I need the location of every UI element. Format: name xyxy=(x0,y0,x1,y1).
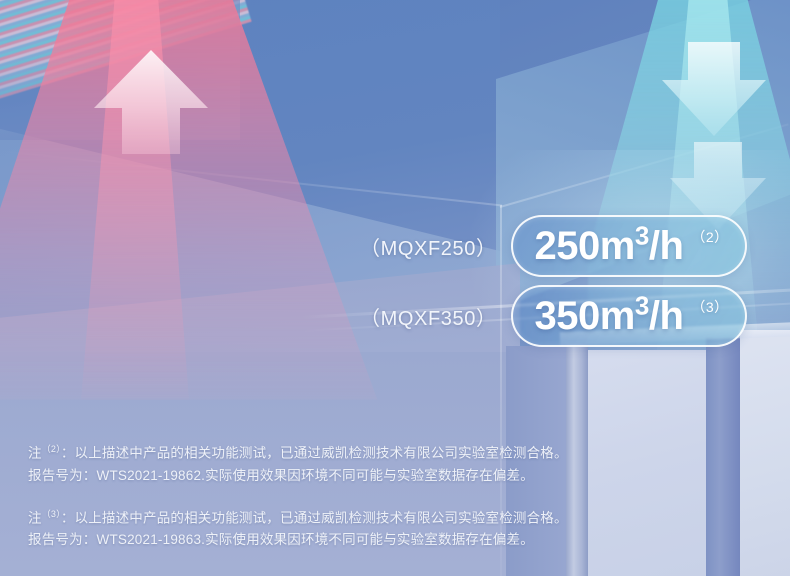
airflow-value-250: 250m3/h xyxy=(535,226,684,266)
airflow-pill-350[interactable]: 350m3/h （3） xyxy=(511,285,747,347)
airflow-number-350: 350m xyxy=(535,294,635,338)
spec-row-mqxf350: （MQXF350） 350m3/h （3） xyxy=(360,285,747,347)
footnote-3-marker: 注 xyxy=(28,510,42,525)
banner-stage: （MQXF250） 250m3/h （2） （MQXF350） 350m3/h … xyxy=(0,0,790,576)
footnotes-block: 注（2）：以上描述中产品的相关功能测试，已通过威凯检测技术有限公司实验室检测合格… xyxy=(28,438,588,567)
footnote-2-line-2: 报告号为：WTS2021-19862.实际使用效果因环境不同可能与实验室数据存在… xyxy=(28,465,588,487)
footnote-2: 注（2）：以上描述中产品的相关功能测试，已通过威凯检测技术有限公司实验室检测合格… xyxy=(28,438,588,487)
footnote-ref-350: （3） xyxy=(691,297,728,317)
model-label-mqxf250: （MQXF250） xyxy=(360,232,497,261)
airflow-exponent-350: 3 xyxy=(635,291,649,321)
arrow-up-icon xyxy=(92,48,210,156)
footnote-2-marker: 注 xyxy=(28,446,42,461)
spec-row-mqxf250: （MQXF250） 250m3/h （2） xyxy=(360,215,747,277)
footnote-3-line-1: 注（3）：以上描述中产品的相关功能测试，已通过威凯检测技术有限公司实验室检测合格… xyxy=(28,503,588,530)
arrow-down-icon xyxy=(660,40,768,138)
airflow-pill-250[interactable]: 250m3/h （2） xyxy=(511,215,747,277)
footnote-3: 注（3）：以上描述中产品的相关功能测试，已通过威凯检测技术有限公司实验室检测合格… xyxy=(28,503,588,552)
airflow-unit-250: /h xyxy=(649,224,684,268)
footnote-2-marker-sup: （2） xyxy=(42,444,61,454)
airflow-number-250: 250m xyxy=(535,224,635,268)
model-label-mqxf350: （MQXF350） xyxy=(360,302,497,331)
footnote-2-text-1: ：以上描述中产品的相关功能测试，已通过威凯检测技术有限公司实验室检测合格。 xyxy=(61,446,568,461)
window-pane-left xyxy=(588,350,706,576)
footnote-ref-250: （2） xyxy=(691,227,728,247)
footnote-3-marker-sup: （3） xyxy=(42,509,61,519)
footnote-3-text-1: ：以上描述中产品的相关功能测试，已通过威凯检测技术有限公司实验室检测合格。 xyxy=(61,510,568,525)
airflow-exponent-250: 3 xyxy=(635,221,649,251)
window-pane-right xyxy=(740,330,790,576)
footnote-3-line-2: 报告号为：WTS2021-19863.实际使用效果因环境不同可能与实验室数据存在… xyxy=(28,529,588,551)
airflow-value-350: 350m3/h xyxy=(535,296,684,336)
airflow-unit-350: /h xyxy=(649,294,684,338)
footnote-2-line-1: 注（2）：以上描述中产品的相关功能测试，已通过威凯检测技术有限公司实验室检测合格… xyxy=(28,438,588,465)
window-mullion xyxy=(706,338,740,576)
